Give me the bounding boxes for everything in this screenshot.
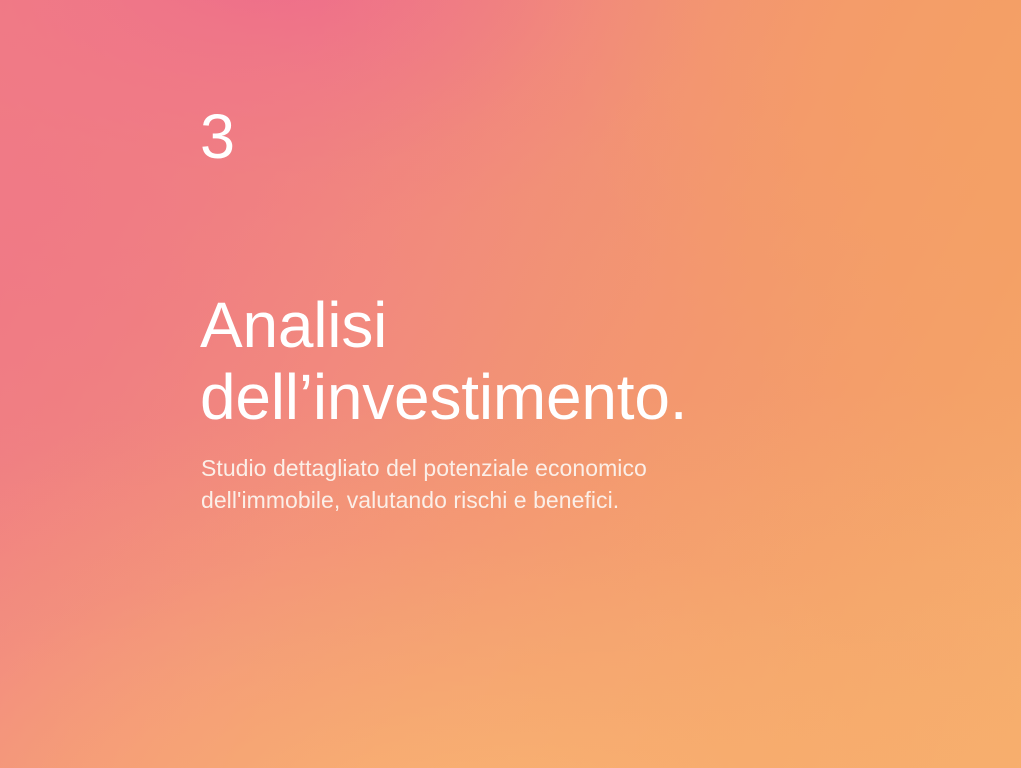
- presentation-slide: 3 Analisi dell’investimento. Studio dett…: [0, 0, 1021, 768]
- page-title-line-2: dell’investimento.: [200, 361, 687, 433]
- page-subtitle-line-1: Studio dettagliato del potenziale econom…: [201, 452, 647, 484]
- section-number: 3: [200, 106, 235, 169]
- page-title-line-1: Analisi: [200, 289, 687, 361]
- page-subtitle: Studio dettagliato del potenziale econom…: [201, 452, 647, 516]
- page-title: Analisi dell’investimento.: [200, 289, 687, 433]
- page-subtitle-line-2: dell'immobile, valutando rischi e benefi…: [201, 484, 647, 516]
- slide-content: 3 Analisi dell’investimento. Studio dett…: [200, 0, 960, 768]
